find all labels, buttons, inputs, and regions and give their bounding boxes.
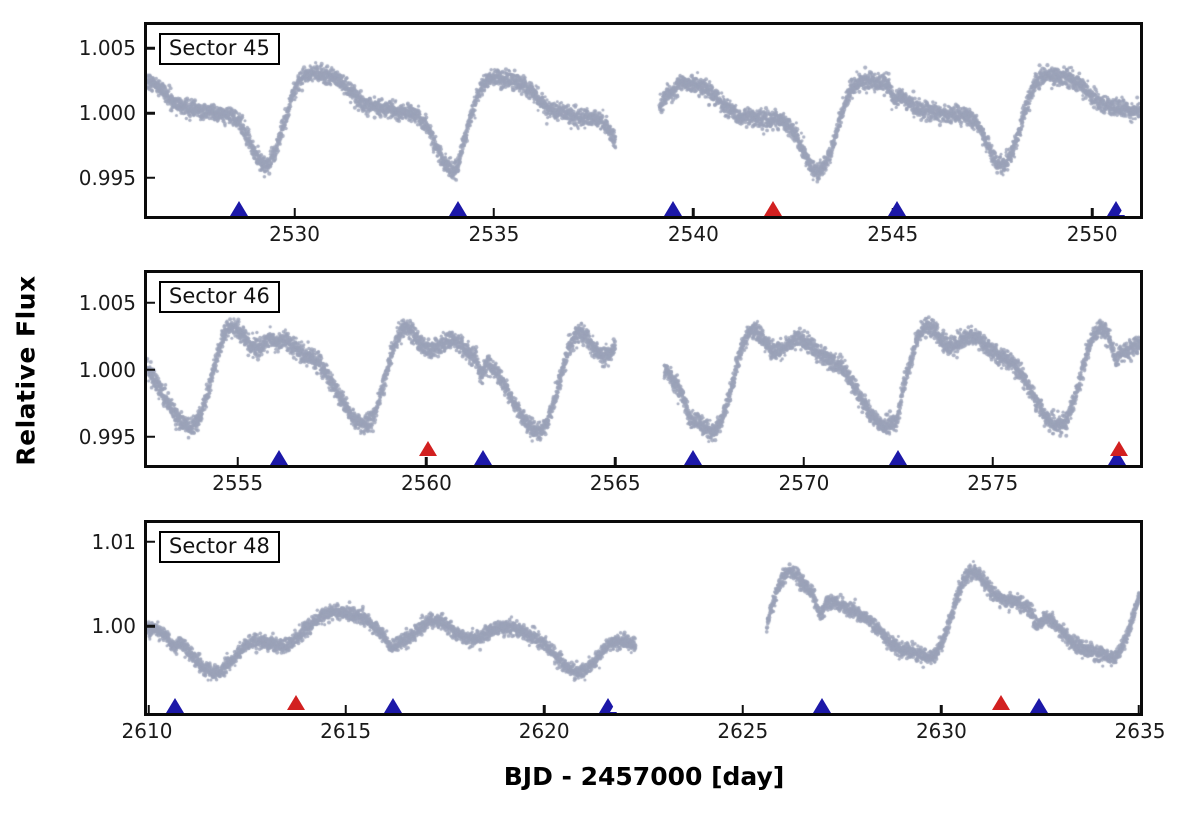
x-tick-label: 2635 (1115, 719, 1166, 743)
event-marker-blue-filled (664, 201, 682, 216)
triangle-inner-fill (1119, 205, 1131, 215)
triangle-filled-icon (764, 201, 782, 216)
y-tick-label: 1.000 (79, 358, 147, 382)
y-tick-mark (147, 47, 155, 50)
x-tick-mark (1137, 705, 1140, 713)
x-tick-label: 2630 (916, 719, 967, 743)
lightcurve-scatter-sector-45 (147, 25, 1140, 216)
event-marker-red-filled (1110, 441, 1128, 456)
x-tick-label: 2610 (122, 719, 173, 743)
panel-sector-45: Sector 45 0.9951.0001.005253025352540254… (144, 22, 1143, 219)
y-tick-label: 1.005 (79, 291, 147, 315)
x-tick-mark (614, 457, 617, 465)
sector-label-48: Sector 48 (159, 531, 280, 563)
x-tick-mark (344, 705, 347, 713)
x-tick-mark (493, 208, 496, 216)
x-tick-label: 2560 (401, 471, 452, 495)
triangle-filled-icon (230, 201, 248, 216)
triangle-filled-icon (992, 695, 1010, 710)
x-tick-label: 2555 (212, 471, 263, 495)
triangle-filled-icon (287, 695, 305, 710)
event-marker-blue-filled (1030, 698, 1048, 713)
plot-area-sector-46 (147, 273, 1140, 465)
x-tick-label: 2565 (590, 471, 641, 495)
y-tick-label: 1.01 (91, 530, 147, 554)
x-tick-mark (1091, 208, 1094, 216)
y-axis-label: Relative Flux (2, 0, 50, 740)
x-tick-label: 2540 (668, 222, 719, 246)
triangle-filled-icon (889, 450, 907, 465)
triangle-filled-icon (474, 450, 492, 465)
y-tick-mark (147, 540, 155, 543)
x-tick-label: 2625 (717, 719, 768, 743)
lightcurve-figure: Relative Flux Sector 45 0.9951.0001.0052… (0, 0, 1200, 816)
y-tick-mark (147, 625, 155, 628)
event-marker-blue-filled (230, 201, 248, 216)
event-marker-blue-open (1107, 201, 1125, 216)
event-marker-red-filled (419, 441, 437, 456)
x-tick-mark (236, 457, 239, 465)
event-marker-blue-filled (449, 201, 467, 216)
triangle-filled-icon (270, 450, 288, 465)
y-tick-mark (147, 436, 155, 439)
plot-area-sector-48 (147, 523, 1140, 713)
triangle-filled-icon (384, 698, 402, 713)
triangle-filled-icon (166, 698, 184, 713)
y-tick-label: 0.995 (79, 166, 147, 190)
event-marker-blue-filled (474, 450, 492, 465)
y-tick-label: 1.005 (79, 36, 147, 60)
x-tick-label: 2535 (468, 222, 519, 246)
x-tick-mark (147, 705, 150, 713)
x-tick-label: 2575 (967, 471, 1018, 495)
x-tick-label: 2570 (779, 471, 830, 495)
event-marker-blue-filled (888, 201, 906, 216)
triangle-filled-icon (1110, 441, 1128, 456)
sector-label-45: Sector 45 (159, 33, 280, 65)
triangle-outline-icon (1107, 201, 1125, 216)
lightcurve-scatter-sector-48 (147, 523, 1140, 713)
triangle-filled-icon (419, 441, 437, 456)
triangle-filled-icon (813, 698, 831, 713)
triangle-inner-fill (610, 702, 622, 712)
x-tick-label: 2550 (1067, 222, 1118, 246)
event-marker-blue-filled (813, 698, 831, 713)
triangle-filled-icon (664, 201, 682, 216)
triangle-outline-icon (599, 698, 617, 713)
y-tick-mark (147, 112, 155, 115)
y-tick-label: 1.000 (79, 101, 147, 125)
y-tick-mark (147, 368, 155, 371)
y-tick-label: 0.995 (79, 425, 147, 449)
x-tick-mark (425, 457, 428, 465)
x-tick-mark (293, 208, 296, 216)
event-marker-blue-filled (889, 450, 907, 465)
event-marker-blue-filled (684, 450, 702, 465)
lightcurve-scatter-sector-46 (147, 273, 1140, 465)
triangle-filled-icon (449, 201, 467, 216)
triangle-filled-icon (1030, 698, 1048, 713)
event-marker-red-filled (287, 695, 305, 710)
x-tick-label: 2545 (867, 222, 918, 246)
x-tick-label: 2620 (519, 719, 570, 743)
y-tick-mark (147, 301, 155, 304)
event-marker-blue-filled (166, 698, 184, 713)
x-tick-mark (742, 705, 745, 713)
x-axis-label: BJD - 2457000 [day] (144, 762, 1144, 791)
x-tick-mark (543, 705, 546, 713)
event-marker-blue-filled (270, 450, 288, 465)
panel-sector-46: Sector 46 0.9951.0001.005255525602565257… (144, 270, 1143, 468)
x-tick-mark (692, 208, 695, 216)
event-marker-red-filled (992, 695, 1010, 710)
event-marker-blue-filled (384, 698, 402, 713)
x-tick-mark (940, 705, 943, 713)
y-tick-label: 1.00 (91, 614, 147, 638)
y-tick-mark (147, 177, 155, 180)
triangle-filled-icon (684, 450, 702, 465)
plot-area-sector-45 (147, 25, 1140, 216)
x-tick-label: 2530 (269, 222, 320, 246)
sector-label-46: Sector 46 (159, 281, 280, 313)
event-marker-blue-open (599, 698, 617, 713)
x-tick-label: 2615 (320, 719, 371, 743)
panel-sector-48: Sector 48 1.001.012610261526202625263026… (144, 520, 1143, 716)
x-tick-mark (803, 457, 806, 465)
triangle-filled-icon (888, 201, 906, 216)
x-tick-mark (991, 457, 994, 465)
event-marker-red-filled (764, 201, 782, 216)
